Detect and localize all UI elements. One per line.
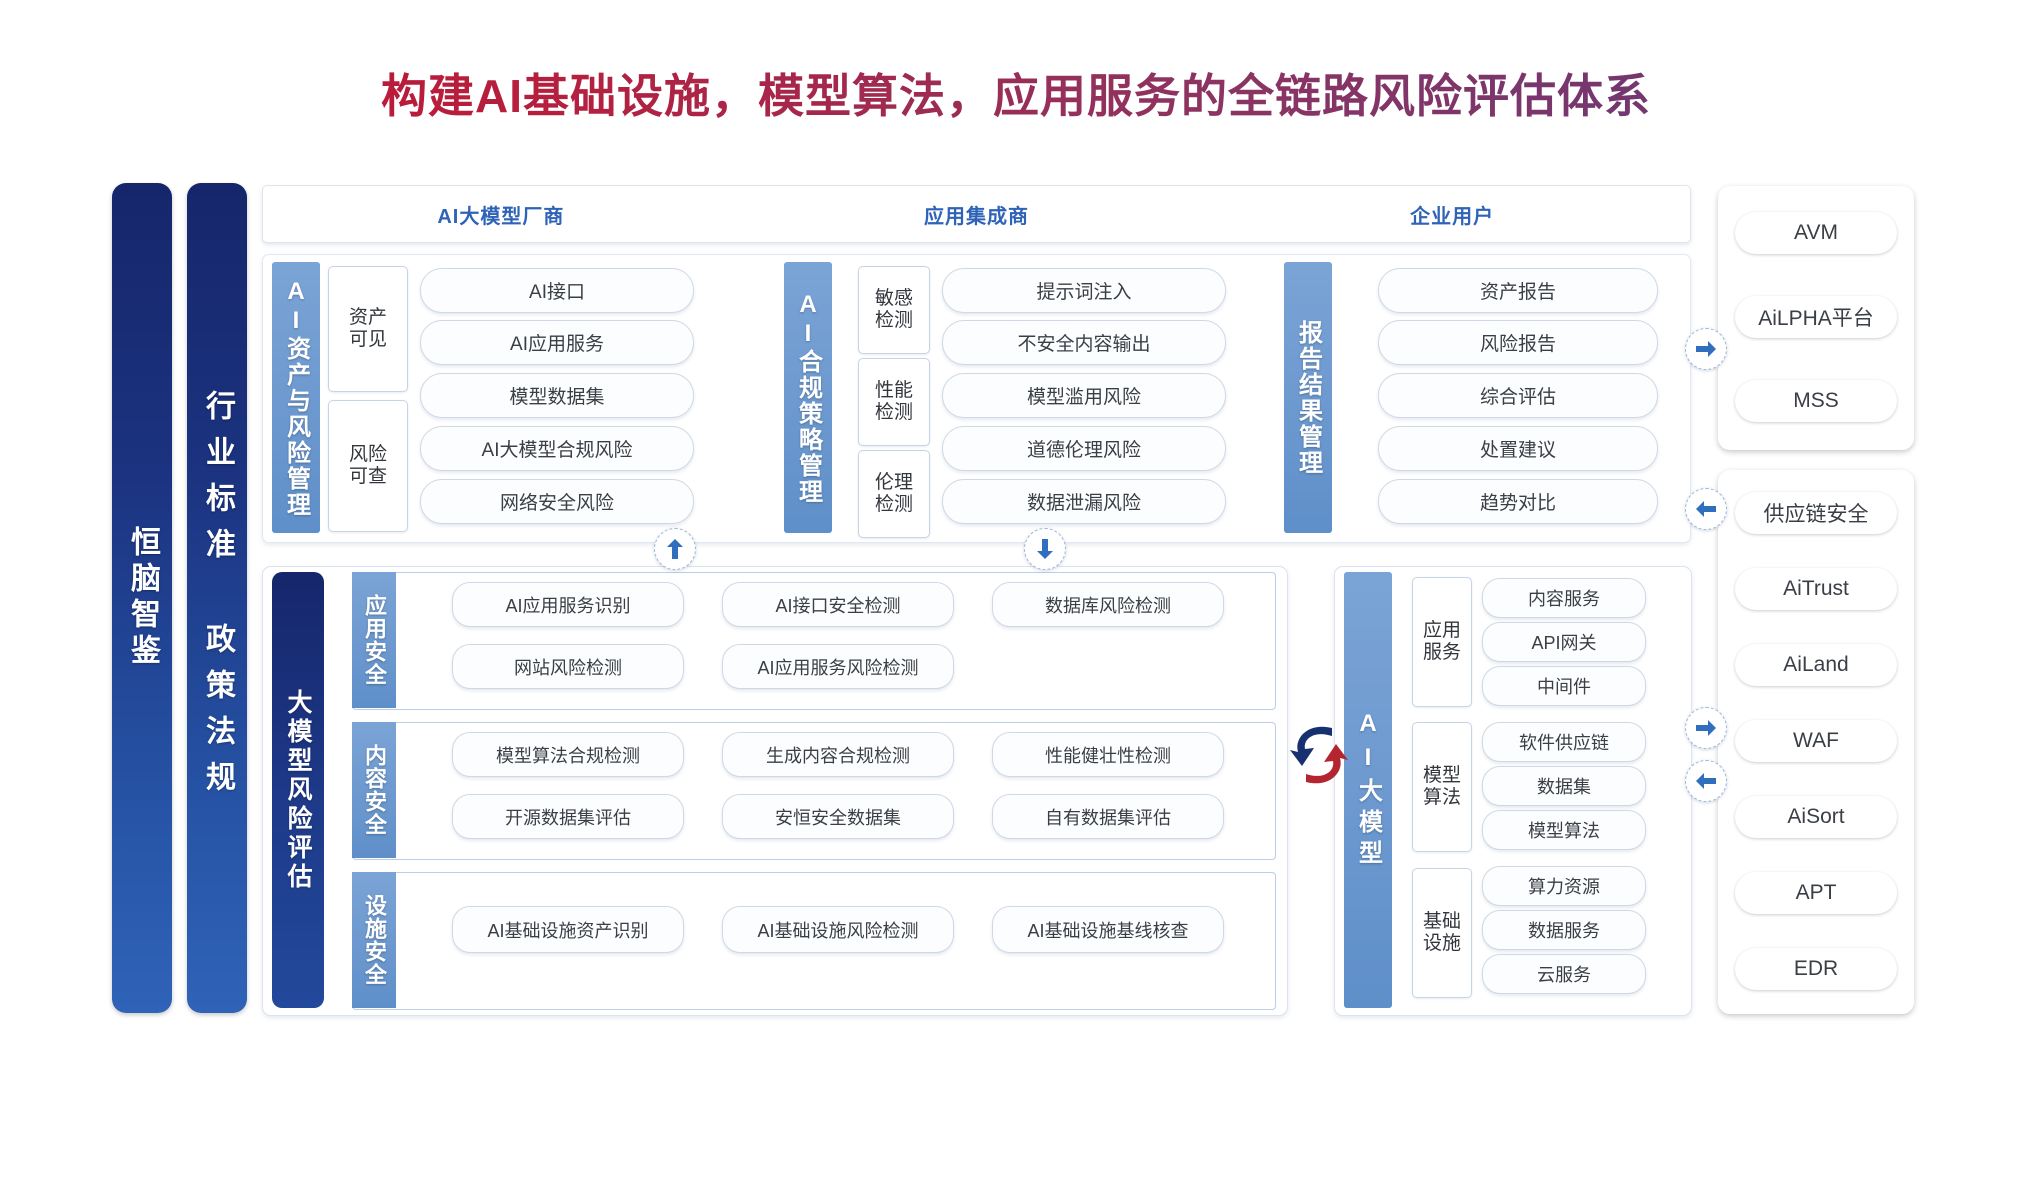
arrow-right-icon-1 xyxy=(1685,328,1727,370)
subsection-label-app-security-text: 应用安全 xyxy=(358,594,390,686)
pill-ai-app-service-recognition[interactable]: AI应用服务识别 xyxy=(452,582,684,627)
arrow-left-icon-2 xyxy=(1685,760,1727,802)
pill-model-algo-compliance-detect[interactable]: 模型算法合规检测 xyxy=(452,732,684,777)
arrow-down-icon xyxy=(1024,528,1066,570)
pill-overall-assessment[interactable]: 综合评估 xyxy=(1378,373,1658,418)
right-pill-edr[interactable]: EDR xyxy=(1735,948,1897,990)
sublabel-risk-traceable: 风险可查 xyxy=(328,400,408,532)
sublabel-performance-detect: 性能检测 xyxy=(858,358,930,446)
pill-risk-report[interactable]: 风险报告 xyxy=(1378,320,1658,365)
pill-llm-compliance-risk[interactable]: AI大模型合规风险 xyxy=(420,426,694,471)
pill-trend-comparison[interactable]: 趋势对比 xyxy=(1378,479,1658,524)
channel-header-item-0: AI大模型厂商 xyxy=(263,200,739,229)
subsection-label-infra-security-text: 设施安全 xyxy=(358,894,390,986)
group-spine-compliance-policy-label: AI合规策略管理 xyxy=(791,291,826,505)
right-pill-avm[interactable]: AVM xyxy=(1735,212,1897,254)
pill-ai-app-service[interactable]: AI应用服务 xyxy=(420,320,694,365)
right-pill-ailpha[interactable]: AiLPHA平台 xyxy=(1735,296,1897,338)
group-spine-report-result-label: 报告结果管理 xyxy=(1291,320,1326,476)
pill-prompt-injection[interactable]: 提示词注入 xyxy=(942,268,1226,313)
pill-dbappsecurity-dataset[interactable]: 安恒安全数据集 xyxy=(722,794,954,839)
subsection-label-app-security: 应用安全 xyxy=(352,572,396,708)
pill-ai-infra-risk-detect[interactable]: AI基础设施风险检测 xyxy=(722,906,954,953)
right-pill-mss[interactable]: MSS xyxy=(1735,380,1897,422)
pill-database-risk-detect[interactable]: 数据库风险检测 xyxy=(992,582,1224,627)
sublabel-sensitive-detect: 敏感检测 xyxy=(858,266,930,354)
pill-ai-interface-security-detect[interactable]: AI接口安全检测 xyxy=(722,582,954,627)
pill-opensource-dataset-eval[interactable]: 开源数据集评估 xyxy=(452,794,684,839)
subsection-label-content-security-text: 内容安全 xyxy=(358,744,390,836)
channel-header-item-2: 企业用户 xyxy=(1214,200,1690,229)
sidebar-bar-brand-label: 恒脑智鉴 xyxy=(120,526,164,670)
subsection-label-infra-security: 设施安全 xyxy=(352,872,396,1008)
sublabel-model-algorithm-text: 模型算法 xyxy=(1422,765,1462,810)
pill-compute-resource[interactable]: 算力资源 xyxy=(1482,866,1646,906)
group-spine-ai-large-model: AI大模型 xyxy=(1344,572,1392,1008)
sidebar-bar-brand: 恒脑智鉴 xyxy=(112,183,172,1013)
group-spine-ai-large-model-label: AI大模型 xyxy=(1351,710,1386,871)
pill-data-service[interactable]: 数据服务 xyxy=(1482,910,1646,950)
page-title: 构建AI基础设施，模型算法，应用服务的全链路风险评估体系 xyxy=(0,60,2032,126)
pill-model-algorithm[interactable]: 模型算法 xyxy=(1482,810,1646,850)
right-stack-products: 供应链安全 AiTrust AiLand WAF AiSort APT EDR xyxy=(1718,470,1914,1014)
channel-header: AI大模型厂商 应用集成商 企业用户 xyxy=(262,185,1691,243)
pill-asset-report[interactable]: 资产报告 xyxy=(1378,268,1658,313)
sublabel-sensitive-detect-text: 敏感检测 xyxy=(874,288,914,333)
group-spine-llm-risk-assessment: 大模型风险评估 xyxy=(272,572,324,1008)
pill-dataset[interactable]: 数据集 xyxy=(1482,766,1646,806)
pill-ai-infra-asset-recognition[interactable]: AI基础设施资产识别 xyxy=(452,906,684,953)
pill-model-dataset[interactable]: 模型数据集 xyxy=(420,373,694,418)
right-pill-supply-chain-security[interactable]: 供应链安全 xyxy=(1735,492,1897,534)
channel-header-item-1: 应用集成商 xyxy=(739,200,1215,229)
pill-own-dataset-eval[interactable]: 自有数据集评估 xyxy=(992,794,1224,839)
right-pill-aitrust[interactable]: AiTrust xyxy=(1735,568,1897,610)
arrow-left-icon-1 xyxy=(1685,488,1727,530)
pill-software-supply-chain[interactable]: 软件供应链 xyxy=(1482,722,1646,762)
sublabel-ethics-detect: 伦理检测 xyxy=(858,450,930,538)
right-pill-waf[interactable]: WAF xyxy=(1735,720,1897,762)
sidebar-bar-policy: 行业标准 政策法规 xyxy=(187,183,247,1013)
group-spine-report-result: 报告结果管理 xyxy=(1284,262,1332,533)
sublabel-ethics-detect-text: 伦理检测 xyxy=(874,472,914,517)
right-pill-aisort[interactable]: AiSort xyxy=(1735,796,1897,838)
right-pill-apt[interactable]: APT xyxy=(1735,872,1897,914)
sublabel-model-algorithm: 模型算法 xyxy=(1412,722,1472,852)
sublabel-asset-visible: 资产可见 xyxy=(328,266,408,392)
pill-cloud-service[interactable]: 云服务 xyxy=(1482,954,1646,994)
pill-ai-app-service-risk-detect[interactable]: AI应用服务风险检测 xyxy=(722,644,954,689)
sublabel-risk-traceable-text: 风险可查 xyxy=(346,444,390,489)
sublabel-infrastructure: 基础设施 xyxy=(1412,868,1472,998)
pill-network-security-risk[interactable]: 网络安全风险 xyxy=(420,479,694,524)
sublabel-app-service-text: 应用服务 xyxy=(1422,620,1462,665)
pill-model-abuse-risk[interactable]: 模型滥用风险 xyxy=(942,373,1226,418)
sublabel-infrastructure-text: 基础设施 xyxy=(1422,911,1462,956)
pill-website-risk-detect[interactable]: 网站风险检测 xyxy=(452,644,684,689)
pill-middleware[interactable]: 中间件 xyxy=(1482,666,1646,706)
group-spine-asset-risk-label: AI资产与风险管理 xyxy=(279,278,314,518)
pill-unsafe-output[interactable]: 不安全内容输出 xyxy=(942,320,1226,365)
pill-generated-content-compliance-detect[interactable]: 生成内容合规检测 xyxy=(722,732,954,777)
arrow-up-icon xyxy=(654,528,696,570)
group-spine-asset-risk: AI资产与风险管理 xyxy=(272,262,320,533)
pill-ethics-risk[interactable]: 道德伦理风险 xyxy=(942,426,1226,471)
pill-ai-infra-baseline-check[interactable]: AI基础设施基线核查 xyxy=(992,906,1224,953)
group-spine-compliance-policy: AI合规策略管理 xyxy=(784,262,832,533)
pill-content-service[interactable]: 内容服务 xyxy=(1482,578,1646,618)
group-spine-llm-risk-assessment-label: 大模型风险评估 xyxy=(280,689,316,892)
pill-ai-interface[interactable]: AI接口 xyxy=(420,268,694,313)
recycle-arrows-icon xyxy=(1288,716,1350,794)
arrow-right-icon-2 xyxy=(1685,707,1727,749)
sublabel-asset-visible-text: 资产可见 xyxy=(346,307,390,352)
pill-performance-robustness-detect[interactable]: 性能健壮性检测 xyxy=(992,732,1224,777)
sublabel-performance-detect-text: 性能检测 xyxy=(874,380,914,425)
sublabel-app-service: 应用服务 xyxy=(1412,577,1472,707)
sidebar-bar-policy-label: 行业标准 政策法规 xyxy=(195,390,239,807)
pill-api-gateway[interactable]: API网关 xyxy=(1482,622,1646,662)
right-pill-ailand[interactable]: AiLand xyxy=(1735,644,1897,686)
subsection-label-content-security: 内容安全 xyxy=(352,722,396,858)
pill-data-leak-risk[interactable]: 数据泄漏风险 xyxy=(942,479,1226,524)
pill-remediation-advice[interactable]: 处置建议 xyxy=(1378,426,1658,471)
right-stack-platforms: AVM AiLPHA平台 MSS xyxy=(1718,186,1914,450)
diagram-canvas: 构建AI基础设施，模型算法，应用服务的全链路风险评估体系 恒脑智鉴 行业标准 政… xyxy=(0,0,2032,1188)
